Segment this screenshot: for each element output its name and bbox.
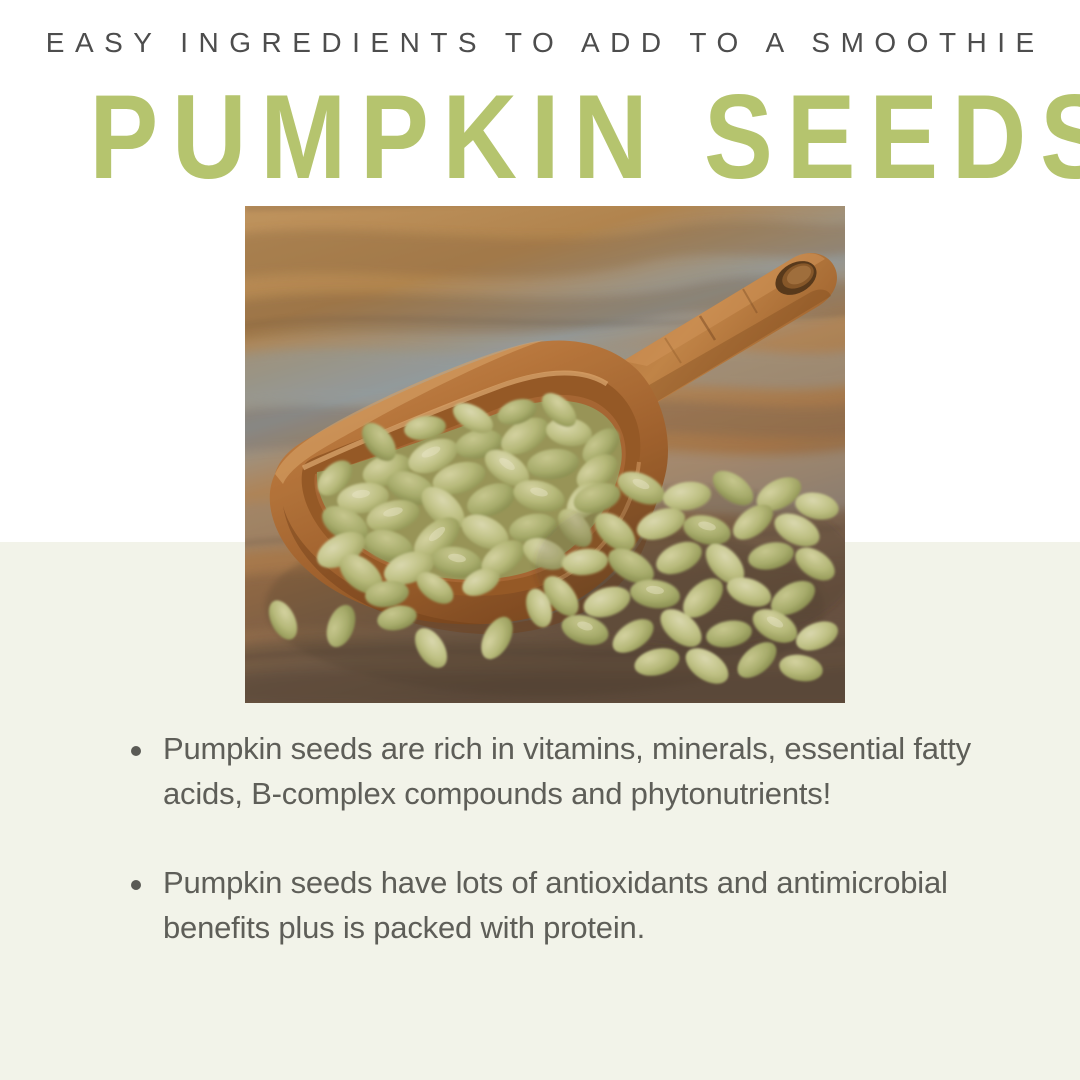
list-item-text: Pumpkin seeds are rich in vitamins, mine… xyxy=(163,726,1031,816)
bullet-dot-icon xyxy=(131,880,141,890)
benefits-list: Pumpkin seeds are rich in vitamins, mine… xyxy=(131,726,1031,994)
pumpkin-seeds-photo xyxy=(245,206,845,703)
page-title: PUMPKIN SEEDS xyxy=(76,78,1005,196)
photo-illustration xyxy=(245,206,845,703)
bullet-dot-icon xyxy=(131,746,141,756)
list-item: Pumpkin seeds have lots of antioxidants … xyxy=(131,860,1031,950)
kicker-text: EASY INGREDIENTS TO ADD TO A SMOOTHIE xyxy=(0,27,1080,59)
list-item: Pumpkin seeds are rich in vitamins, mine… xyxy=(131,726,1031,816)
poster-canvas: EASY INGREDIENTS TO ADD TO A SMOOTHIE PU… xyxy=(0,0,1080,1080)
list-item-text: Pumpkin seeds have lots of antioxidants … xyxy=(163,860,1031,950)
